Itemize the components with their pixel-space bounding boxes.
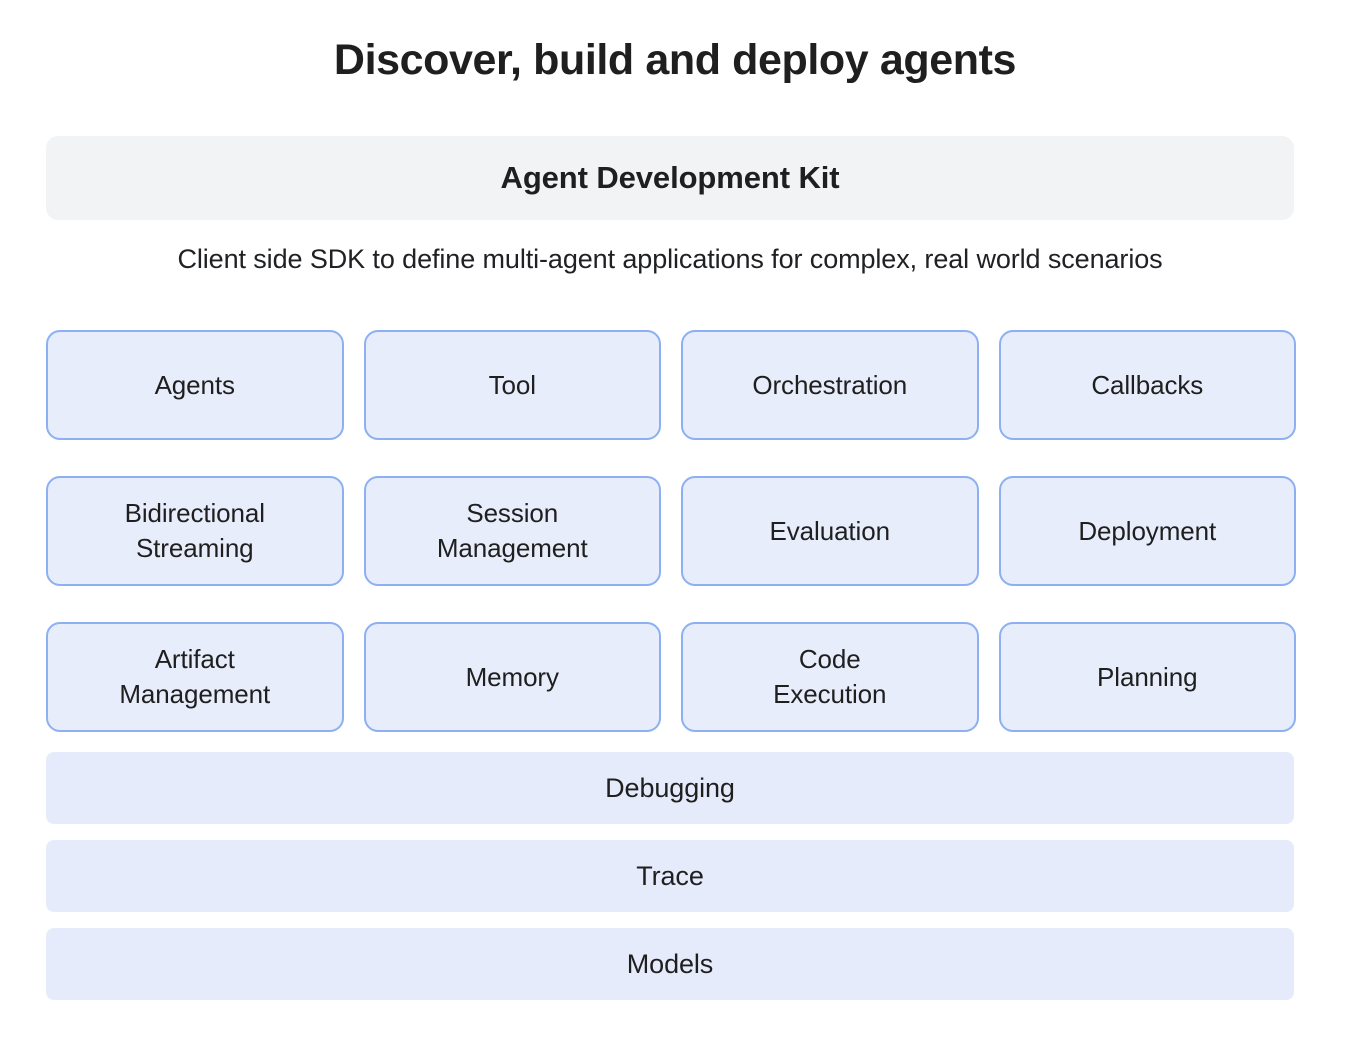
capability-card-orchestration[interactable]: Orchestration <box>681 330 979 440</box>
foundation-bar-label: Debugging <box>605 773 735 804</box>
capability-card-label: Agents <box>155 368 235 403</box>
capability-card-memory[interactable]: Memory <box>364 622 662 732</box>
capability-card-session-management[interactable]: Session Management <box>364 476 662 586</box>
capability-card-label: Artifact Management <box>119 642 270 711</box>
capability-card-label: Memory <box>466 660 559 695</box>
capability-card-evaluation[interactable]: Evaluation <box>681 476 979 586</box>
capability-card-label: Session Management <box>437 496 588 565</box>
foundation-bar-models[interactable]: Models <box>46 928 1294 1000</box>
capability-card-label: Orchestration <box>752 368 907 403</box>
capability-card-deployment[interactable]: Deployment <box>999 476 1297 586</box>
capability-card-bidirectional-streaming[interactable]: Bidirectional Streaming <box>46 476 344 586</box>
capability-card-tool[interactable]: Tool <box>364 330 662 440</box>
capability-card-planning[interactable]: Planning <box>999 622 1297 732</box>
capability-card-label: Code Execution <box>773 642 886 711</box>
diagram-canvas: Discover, build and deploy agents Agent … <box>0 0 1350 1060</box>
capability-card-callbacks[interactable]: Callbacks <box>999 330 1297 440</box>
capability-card-label: Bidirectional Streaming <box>125 496 265 565</box>
capability-card-label: Evaluation <box>770 514 890 549</box>
capability-grid: Agents Tool Orchestration Callbacks Bidi… <box>46 330 1296 732</box>
capability-card-label: Tool <box>489 368 536 403</box>
foundation-bar-label: Trace <box>636 861 704 892</box>
capability-card-label: Planning <box>1097 660 1197 695</box>
capability-card-agents[interactable]: Agents <box>46 330 344 440</box>
foundation-bar-trace[interactable]: Trace <box>46 840 1294 912</box>
capability-card-label: Callbacks <box>1091 368 1203 403</box>
capability-card-code-execution[interactable]: Code Execution <box>681 622 979 732</box>
foundation-bar-label: Models <box>627 949 713 980</box>
kit-header-label: Agent Development Kit <box>501 160 840 196</box>
kit-description: Client side SDK to define multi-agent ap… <box>46 243 1294 277</box>
foundation-bar-debugging[interactable]: Debugging <box>46 752 1294 824</box>
kit-header-band: Agent Development Kit <box>46 136 1294 220</box>
capability-card-artifact-management[interactable]: Artifact Management <box>46 622 344 732</box>
capability-card-label: Deployment <box>1078 514 1216 549</box>
page-title: Discover, build and deploy agents <box>0 36 1350 85</box>
foundation-stack: Debugging Trace Models <box>46 752 1294 1000</box>
